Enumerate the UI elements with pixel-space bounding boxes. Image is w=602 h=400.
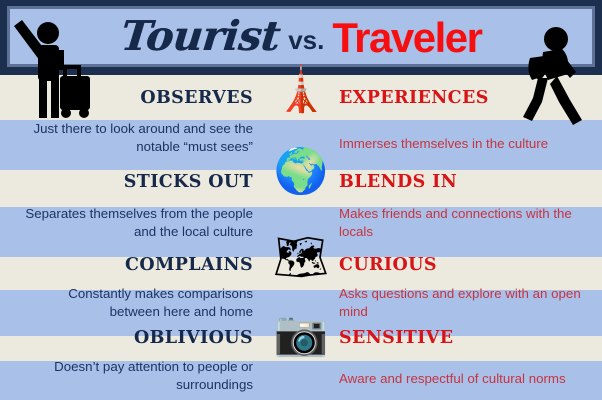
tourist-heading-oblivious: OBLIVIOUS <box>134 330 253 348</box>
traveler-desc-experiences: Immerses themselves in the culture <box>339 135 591 153</box>
traveler-desc-blends-in: Makes friends and connections with the l… <box>339 205 591 240</box>
traveler-with-backpack-silhouette <box>510 22 594 126</box>
title-word-tourist: Tourist <box>118 16 281 57</box>
traveler-desc-curious: Asks questions and explore with an open … <box>339 285 591 320</box>
tourist-heading-observes: OBSERVES <box>140 90 253 108</box>
title-connector-vs: vs. <box>288 27 324 53</box>
header-title-bar: Tourist vs. Traveler <box>10 9 592 64</box>
traveler-heading-experiences: EXPERIENCES <box>339 90 489 108</box>
tourist-desc-observes: Just there to look around and see the no… <box>17 120 253 155</box>
tourist-heading-sticks-out: STICKS OUT <box>124 174 253 192</box>
infographic-root: Tourist vs. Traveler <box>0 0 602 400</box>
traveler-desc-sensitive: Aware and respectful of cultural norms <box>339 370 591 388</box>
tourist-desc-oblivious: Doesn’t pay attention to people or surro… <box>17 358 253 393</box>
title-word-traveler: Traveler <box>332 17 481 59</box>
traveler-heading-blends-in: BLENDS IN <box>339 174 457 192</box>
page-title: Tourist vs. Traveler <box>10 9 592 64</box>
background-band-cream-2 <box>0 170 602 207</box>
tourist-with-suitcase-silhouette <box>8 8 96 120</box>
traveler-heading-sensitive: SENSITIVE <box>339 330 454 348</box>
tourist-desc-complains: Constantly makes comparisons between her… <box>17 285 253 320</box>
tourist-desc-sticks-out: Separates themselves from the people and… <box>17 205 253 240</box>
tourist-heading-complains: COMPLAINS <box>125 257 253 275</box>
traveler-heading-curious: CURIOUS <box>339 257 437 275</box>
